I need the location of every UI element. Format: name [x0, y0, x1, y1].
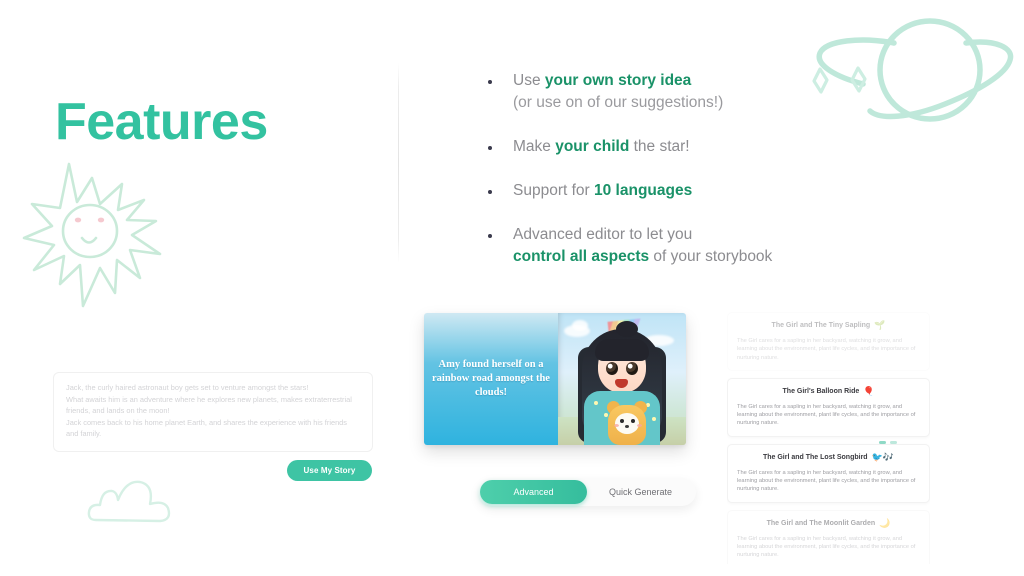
toggle-option-advanced[interactable]: Advanced — [480, 480, 587, 504]
column-divider — [398, 63, 399, 263]
feature-item-2: Make your child the star! — [480, 136, 900, 158]
carousel-dot[interactable] — [890, 441, 897, 444]
songbird-music-icon: 🐦🎶 — [872, 452, 894, 462]
feature-item-1: Use your own story idea (or use on of ou… — [480, 70, 900, 114]
teddy-face-shape — [615, 413, 639, 434]
book-page-text: Amy found herself on a rainbow road amon… — [424, 358, 558, 400]
cloud-doodle-icon — [86, 478, 194, 530]
feature-lead: Support for — [513, 182, 594, 199]
story-card-title: The Girl and The Tiny Sapling🌱 — [737, 320, 920, 331]
book-illustration — [558, 313, 686, 445]
bullet-dot-icon — [488, 190, 492, 194]
story-card-title-text: The Girl and The Lost Songbird — [763, 454, 868, 461]
story-card-title: The Girl and The Moonlit Garden🌙 — [737, 518, 920, 529]
fringe-shape — [595, 339, 649, 361]
feature-line: Support for 10 languages — [513, 180, 900, 202]
book-preview[interactable]: Amy found herself on a rainbow road amon… — [424, 313, 686, 445]
teddy-cheek-shape — [637, 424, 642, 427]
mode-toggle[interactable]: Advanced Quick Generate — [478, 478, 696, 506]
eye-shape — [626, 362, 638, 375]
story-card-title-text: The Girl and The Tiny Sapling — [772, 322, 871, 329]
story-card[interactable]: The Girl's Balloon Ride🎈 The Girl cares … — [727, 378, 930, 437]
moon-icon: 🌙 — [879, 518, 890, 528]
bullet-dot-icon — [488, 146, 492, 150]
feature-strong: your child — [555, 138, 629, 155]
feature-item-4: Advanced editor to let you control all a… — [480, 224, 900, 268]
bullet-dot-icon — [488, 234, 492, 238]
sun-doodle-icon — [22, 158, 180, 310]
story-card[interactable]: The Girl and The Tiny Sapling🌱 The Girl … — [727, 312, 930, 371]
teddy-eye-shape — [631, 419, 635, 423]
story-suggestion-list[interactable]: The Girl and The Tiny Sapling🌱 The Girl … — [727, 312, 930, 564]
carousel-dots[interactable] — [879, 441, 897, 444]
feature-subline: (or use on of our suggestions!) — [513, 92, 900, 114]
story-card-title-text: The Girl's Balloon Ride — [783, 388, 860, 395]
book-left-page: Amy found herself on a rainbow road amon… — [424, 313, 558, 445]
feature-line: Make your child the star! — [513, 136, 900, 158]
story-card-description: The Girl cares for a sapling in her back… — [737, 469, 920, 494]
feature-lead: Advanced editor to let you — [513, 226, 692, 243]
teddy-cheek-shape — [614, 424, 619, 427]
feature-lead: Use — [513, 72, 545, 89]
slide-canvas: Features Use My Story Use your own story… — [0, 0, 1024, 576]
feature-strong: control all aspects — [513, 248, 649, 265]
story-idea-textarea[interactable] — [53, 372, 373, 452]
sapling-icon: 🌱 — [874, 320, 885, 330]
story-card-title: The Girl and The Lost Songbird🐦🎶 — [737, 452, 920, 463]
hair-bun-shape — [616, 321, 638, 337]
story-card-description: The Girl cares for a sapling in her back… — [737, 403, 920, 428]
story-card-description: The Girl cares for a sapling in her back… — [737, 337, 920, 362]
story-card-title: The Girl's Balloon Ride🎈 — [737, 386, 920, 397]
page-title: Features — [55, 96, 268, 148]
feature-lead: Make — [513, 138, 555, 155]
story-card-title-text: The Girl and The Moonlit Garden — [767, 520, 876, 527]
feature-strong: your own story idea — [545, 72, 691, 89]
feature-tail: the star! — [629, 138, 689, 155]
flower-shape — [594, 401, 598, 405]
story-card[interactable]: The Girl and The Moonlit Garden🌙 The Gir… — [727, 510, 930, 564]
feature-line: Advanced editor to let you — [513, 224, 900, 246]
flower-shape — [604, 413, 608, 417]
feature-tail: of your storybook — [649, 248, 772, 265]
story-card-description: The Girl cares for a sapling in her back… — [737, 535, 920, 560]
feature-list: Use your own story idea (or use on of ou… — [480, 70, 900, 268]
feature-item-3: Support for 10 languages — [480, 180, 900, 202]
teddy-nose-shape — [625, 425, 629, 428]
toggle-option-quick-generate[interactable]: Quick Generate — [587, 480, 694, 504]
feature-line: Use your own story idea — [513, 70, 900, 92]
teddy-eye-shape — [620, 419, 624, 423]
story-card[interactable]: The Girl and The Lost Songbird🐦🎶 The Gir… — [727, 444, 930, 503]
eye-shape — [606, 362, 618, 375]
bullet-dot-icon — [488, 80, 492, 84]
feature-line-2: control all aspects of your storybook — [513, 246, 900, 268]
balloon-icon: 🎈 — [863, 386, 874, 396]
use-my-story-button[interactable]: Use My Story — [287, 460, 372, 481]
cloud-shape — [572, 320, 588, 331]
carousel-dot[interactable] — [879, 441, 886, 444]
feature-strong: 10 languages — [594, 182, 692, 199]
flower-shape — [652, 417, 656, 421]
